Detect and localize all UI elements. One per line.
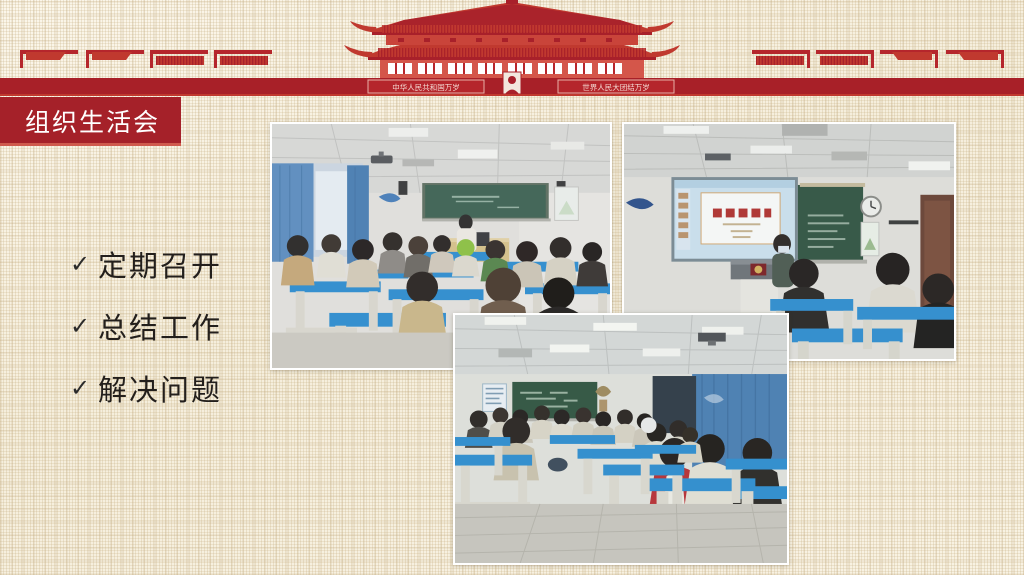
list-item: ✓ 总结工作 xyxy=(70,309,222,343)
slide-canvas: 中华人民共和国万岁 世界人民大团结万岁 组织生活会 ✓ 定期召开 ✓ 总结工 xyxy=(0,0,1024,575)
page-title: 组织生活会 xyxy=(0,103,160,139)
check-icon: ✓ xyxy=(70,314,98,338)
portrait-emblem xyxy=(503,72,521,94)
header-thin-rule xyxy=(0,94,1024,96)
check-icon: ✓ xyxy=(70,376,98,400)
classroom-audience-photo xyxy=(453,313,789,565)
svg-text:中华人民共和国万岁: 中华人民共和国万岁 xyxy=(392,82,460,92)
page-title-banner: 组织生活会 xyxy=(0,97,181,145)
svg-text:世界人民大团结万岁: 世界人民大团结万岁 xyxy=(582,82,650,92)
list-item-label: 总结工作 xyxy=(98,305,222,347)
list-item: ✓ 解决问题 xyxy=(70,371,222,405)
title-banner-underline xyxy=(0,143,181,146)
list-item-label: 解决问题 xyxy=(98,367,222,409)
header-decoration: 中华人民共和国万岁 世界人民大团结万岁 xyxy=(0,0,1024,96)
list-item: ✓ 定期召开 xyxy=(70,247,222,281)
right-slogan-plaque: 世界人民大团结万岁 xyxy=(558,80,674,93)
left-slogan-plaque: 中华人民共和国万岁 xyxy=(368,80,484,93)
bullet-list: ✓ 定期召开 ✓ 总结工作 ✓ 解决问题 xyxy=(70,247,222,433)
check-icon: ✓ xyxy=(70,252,98,276)
list-item-label: 定期召开 xyxy=(98,243,222,285)
